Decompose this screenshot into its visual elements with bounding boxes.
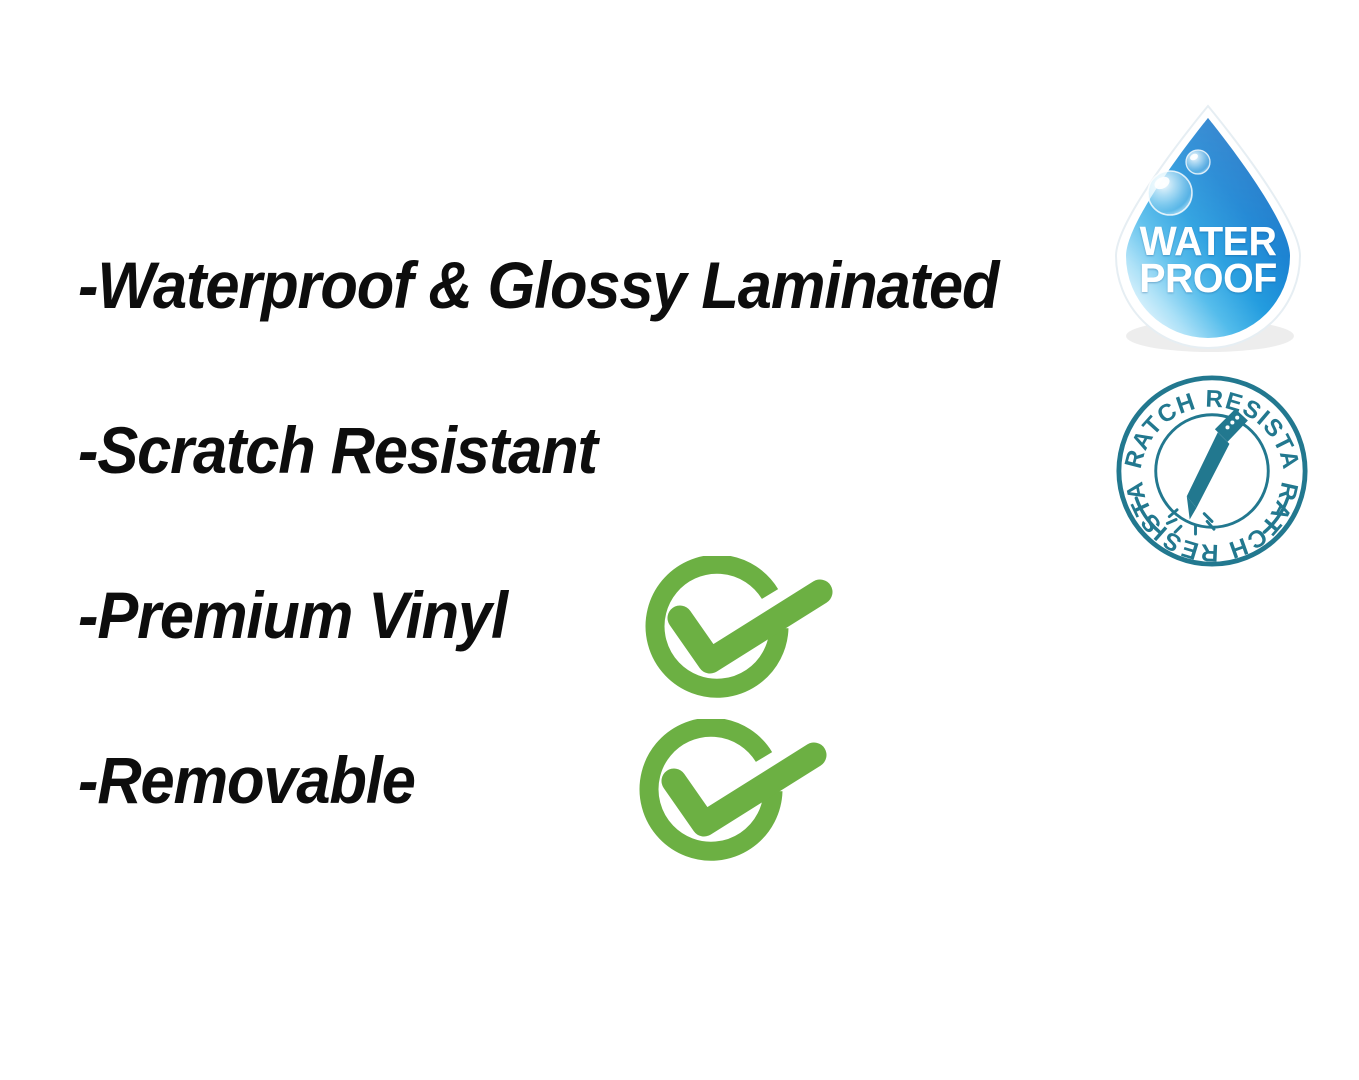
check-premium-vinyl <box>638 556 834 711</box>
water-drop-badge-icon <box>1106 104 1310 354</box>
feature-text-waterproof-glossy-laminated: -Waterproof & Glossy Laminated <box>78 250 998 320</box>
scratch-resistant-badge: SCRATCH RESISTANT SCRATCH RESISTANT <box>1114 374 1310 568</box>
circle-check-icon <box>632 719 828 869</box>
check-removable <box>632 719 828 874</box>
circle-check-icon <box>638 556 834 706</box>
waterproof-badge: WATER PROOF <box>1106 104 1310 354</box>
list-item: -Scratch Resistant <box>78 415 1098 580</box>
feature-text-scratch-resistant: -Scratch Resistant <box>78 415 597 485</box>
list-item: -Removable <box>78 745 1098 910</box>
feature-text-removable: -Removable <box>78 745 415 815</box>
feature-text-premium-vinyl: -Premium Vinyl <box>78 580 507 650</box>
scratch-resistant-seal-icon: SCRATCH RESISTANT SCRATCH RESISTANT <box>1114 374 1310 568</box>
feature-highlight-graphic: -Waterproof & Glossy Laminated -Scratch … <box>0 0 1359 1080</box>
list-item: -Premium Vinyl <box>78 580 1098 745</box>
list-item: -Waterproof & Glossy Laminated <box>78 250 1098 415</box>
feature-list: -Waterproof & Glossy Laminated -Scratch … <box>78 250 1098 910</box>
